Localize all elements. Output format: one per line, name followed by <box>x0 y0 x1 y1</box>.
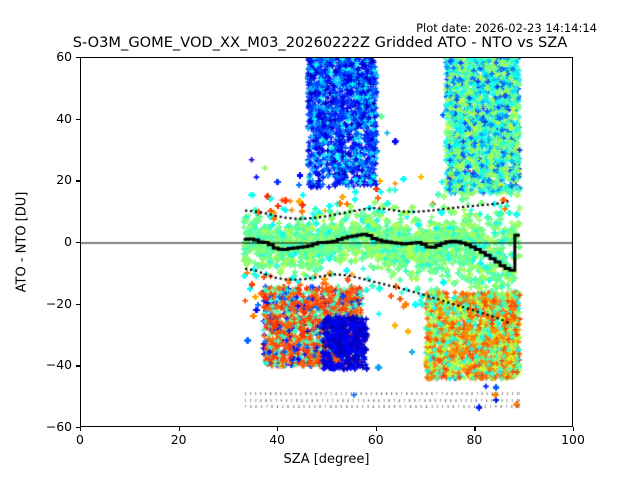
scatter-canvas <box>81 58 573 427</box>
y-tick-label: −40 <box>32 357 72 373</box>
y-tick-mark <box>76 242 80 243</box>
y-tick-label: 20 <box>32 172 72 188</box>
x-tick-label: 20 <box>157 433 201 447</box>
x-tick-label: 80 <box>452 433 496 447</box>
y-tick-label: −60 <box>32 419 72 435</box>
plot-area <box>80 57 573 427</box>
chart-title: S-O3M_GOME_VOD_XX_M03_20260222Z Gridded … <box>0 34 640 52</box>
y-tick-mark <box>76 365 80 366</box>
y-tick-label: 40 <box>32 111 72 127</box>
x-tick-mark <box>474 427 475 431</box>
x-tick-label: 60 <box>354 433 398 447</box>
x-tick-mark <box>80 427 81 431</box>
x-tick-label: 40 <box>255 433 299 447</box>
x-tick-mark <box>277 427 278 431</box>
x-tick-label: 0 <box>58 433 102 447</box>
y-tick-mark <box>76 119 80 120</box>
x-tick-mark <box>179 427 180 431</box>
y-tick-mark <box>76 57 80 58</box>
y-tick-label: −20 <box>32 296 72 312</box>
y-tick-label: 0 <box>32 234 72 250</box>
x-tick-label: 100 <box>551 433 595 447</box>
y-tick-mark <box>76 180 80 181</box>
y-tick-label: 60 <box>32 49 72 65</box>
x-tick-mark <box>376 427 377 431</box>
y-axis-label: ATO - NTO [DU] <box>15 192 30 293</box>
x-tick-mark <box>573 427 574 431</box>
figure: Plot date: 2026-02-23 14:14:14 S-O3M_GOM… <box>0 0 640 480</box>
y-tick-mark <box>76 304 80 305</box>
x-axis-label: SZA [degree] <box>80 452 573 467</box>
y-tick-mark <box>76 427 80 428</box>
